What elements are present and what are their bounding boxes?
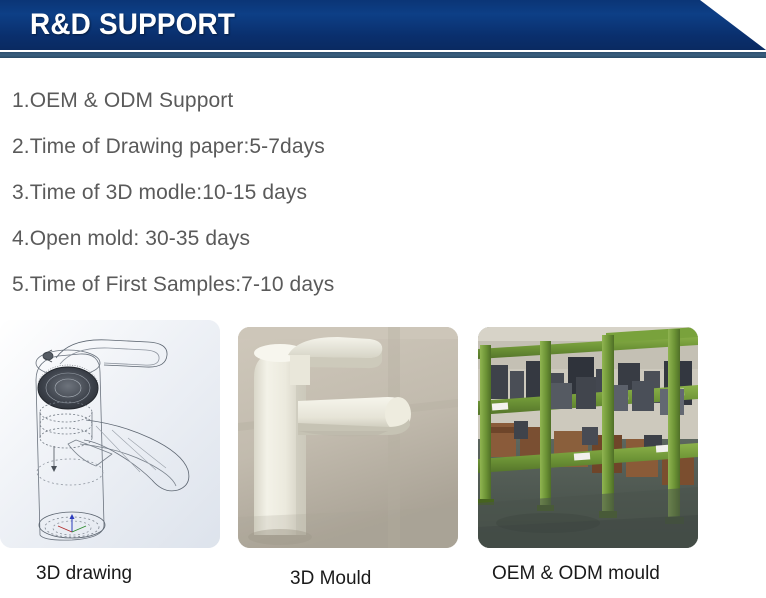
list-item: 4.Open mold: 30-35 days [12, 216, 612, 262]
page-header-banner: R&D SUPPORT [0, 0, 766, 58]
3d-drawing-card [0, 320, 220, 548]
caption-3d-mould: 3D Mould [290, 568, 371, 590]
header-underline-rule [0, 52, 766, 58]
rd-support-list: 1.OEM & ODM Support 2.Time of Drawing pa… [12, 78, 612, 308]
oem-odm-mould-image [478, 327, 698, 548]
3d-drawing-image [0, 320, 220, 548]
3d-mould-image [238, 327, 458, 548]
oem-odm-mould-card [478, 327, 698, 548]
3d-mould-card [238, 327, 458, 548]
list-item: 5.Time of First Samples:7-10 days [12, 262, 612, 308]
gallery-row [0, 320, 766, 560]
list-item: 3.Time of 3D modle:10-15 days [12, 170, 612, 216]
list-item: 2.Time of Drawing paper:5-7days [12, 124, 612, 170]
caption-oem-odm-mould: OEM & ODM mould [492, 563, 660, 585]
list-item: 1.OEM & ODM Support [12, 78, 612, 124]
caption-3d-drawing: 3D drawing [36, 563, 132, 585]
page-title: R&D SUPPORT [30, 5, 235, 45]
